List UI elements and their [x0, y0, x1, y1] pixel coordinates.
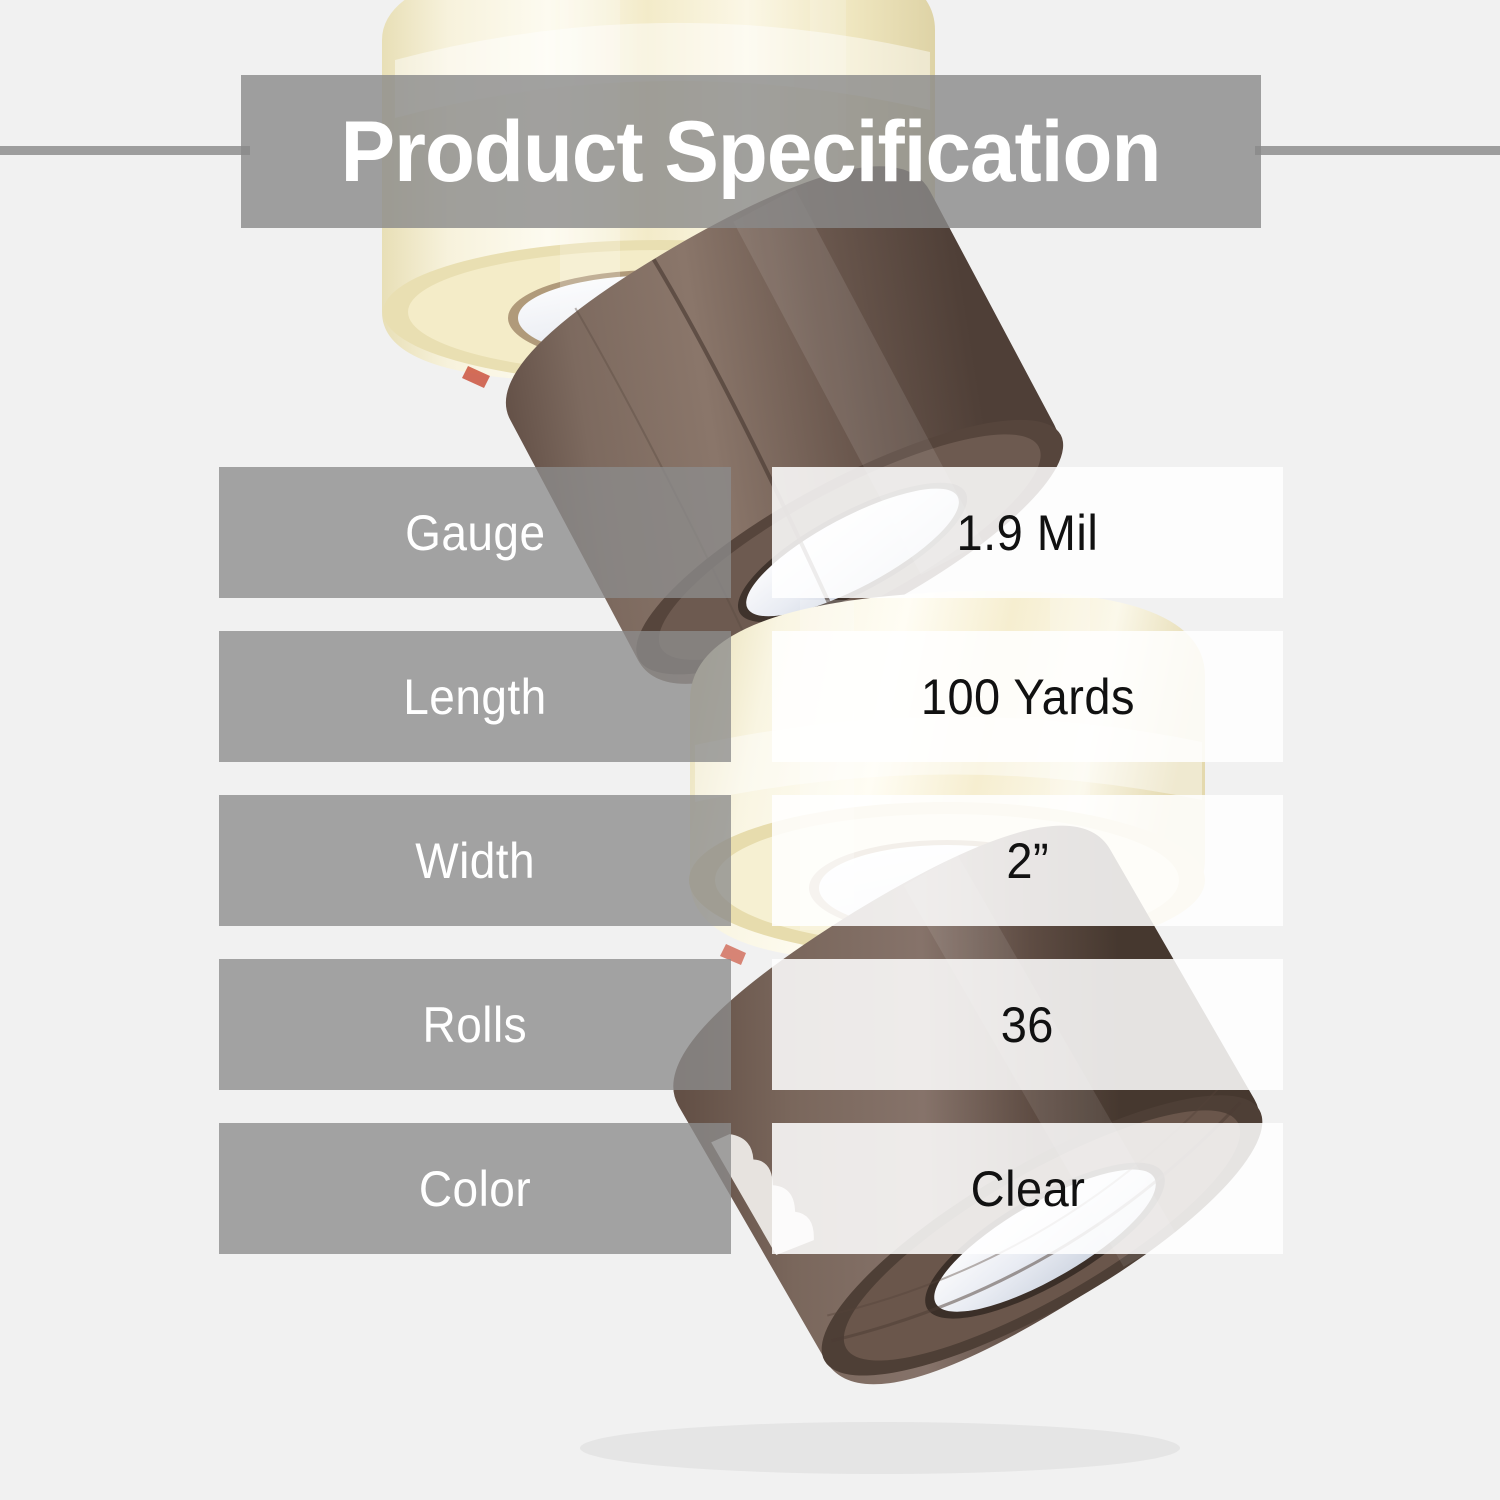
table-row: Length 100 Yards	[219, 631, 1283, 762]
spec-label-cell: Width	[219, 795, 731, 926]
product-spec-table: Gauge 1.9 Mil Length 100 Yards Width 2”	[219, 467, 1283, 1254]
table-row: Width 2”	[219, 795, 1283, 926]
spec-value-text: 1.9 Mil	[957, 504, 1099, 562]
spec-label-text: Width	[415, 832, 535, 890]
spec-label-text: Color	[419, 1160, 531, 1218]
spec-label-text: Rolls	[423, 996, 528, 1054]
title-rule-right	[1255, 146, 1500, 155]
spec-value-cell: 1.9 Mil	[772, 467, 1283, 598]
spec-value-cell: Clear	[772, 1123, 1283, 1254]
table-row: Color Clear	[219, 1123, 1283, 1254]
spec-value-cell: 100 Yards	[772, 631, 1283, 762]
spec-label-cell: Rolls	[219, 959, 731, 1090]
spec-value-text: 2”	[1006, 832, 1049, 890]
spec-label-text: Length	[403, 668, 546, 726]
spec-label-cell: Gauge	[219, 467, 731, 598]
page-title-banner: Product Specification	[241, 75, 1261, 228]
spec-value-text: 36	[1001, 996, 1054, 1054]
page-title: Product Specification	[341, 109, 1161, 195]
spec-label-text: Gauge	[405, 504, 545, 562]
spec-value-cell: 36	[772, 959, 1283, 1090]
table-row: Rolls 36	[219, 959, 1283, 1090]
spec-label-cell: Length	[219, 631, 731, 762]
spec-value-text: 100 Yards	[920, 668, 1134, 726]
product-spec-infographic: Product Specification Gauge 1.9 Mil Leng…	[0, 0, 1500, 1500]
spec-value-cell: 2”	[772, 795, 1283, 926]
title-rule-left	[0, 146, 250, 155]
table-row: Gauge 1.9 Mil	[219, 467, 1283, 598]
spec-value-text: Clear	[970, 1160, 1085, 1218]
spec-label-cell: Color	[219, 1123, 731, 1254]
